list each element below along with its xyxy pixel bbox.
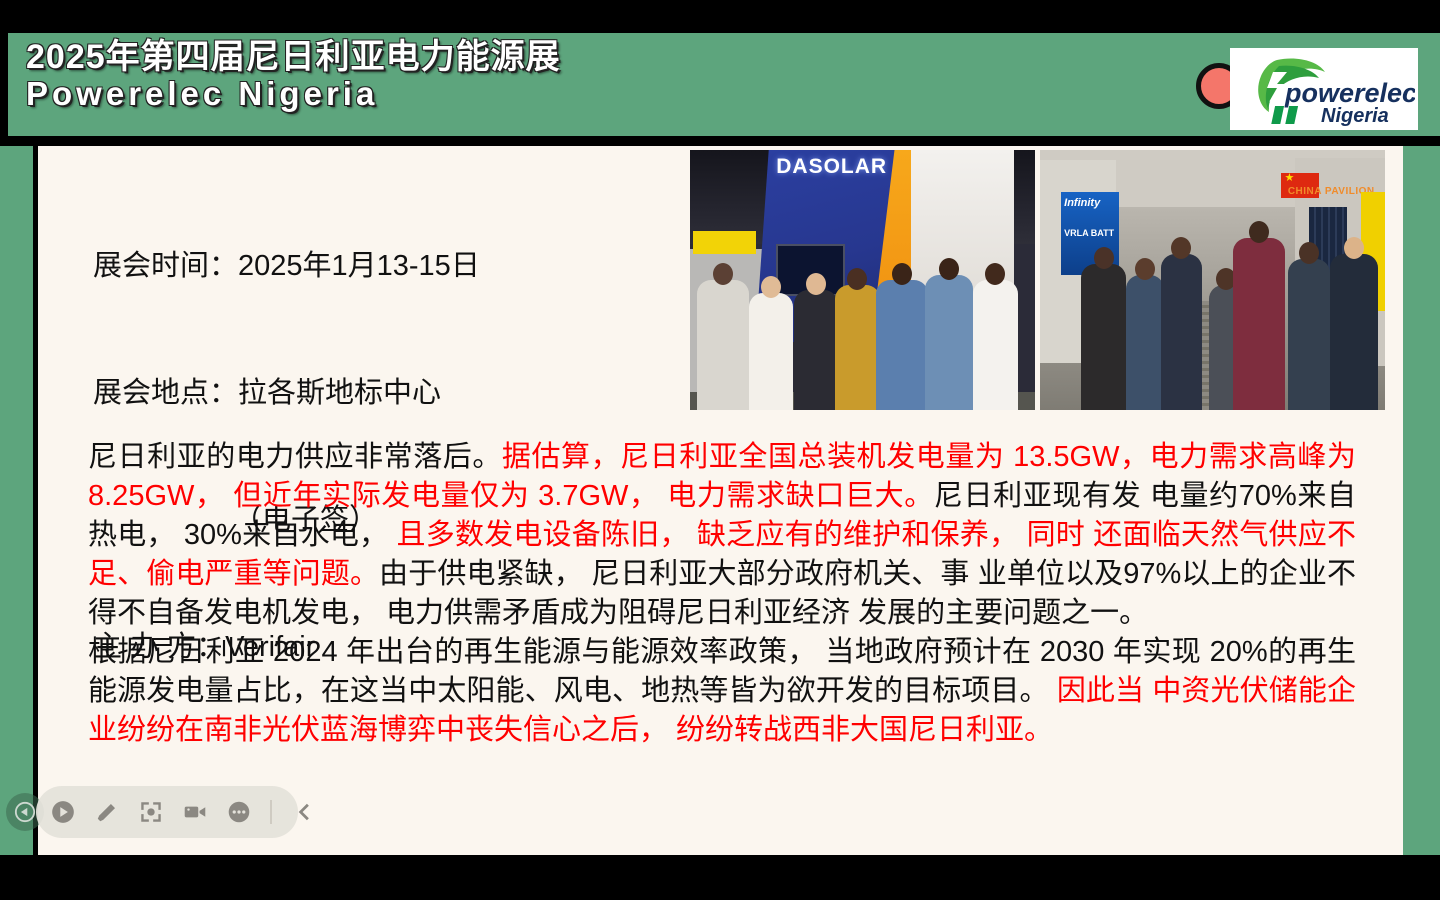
toolbar-divider: [270, 800, 272, 824]
slide-body: 展会时间：2025年1月13-15日 展会地点：拉各斯地标中心 （电子签） 主 …: [0, 146, 1440, 855]
title-english: Powerelec Nigeria: [26, 76, 561, 112]
aisle-crowd-photo: Infinity VRLA BATT CHINA PAVILION: [1040, 150, 1385, 410]
slide-stage: 2025年第四届尼日利亚电力能源展 Powerelec Nigeria powe…: [0, 0, 1440, 900]
laser-pointer-icon: [138, 799, 164, 825]
page-title: 2025年第四届尼日利亚电力能源展 Powerelec Nigeria: [26, 39, 561, 111]
right-green-strip: [1403, 146, 1440, 855]
booth-crowd-photo: DASOLAR: [690, 150, 1035, 410]
record-button[interactable]: [182, 799, 208, 825]
powerelec-logo-icon: powerelec Nigeria: [1233, 50, 1415, 128]
presentation-toolbar[interactable]: [36, 786, 298, 838]
svg-text:powerelec: powerelec: [1284, 78, 1415, 108]
pen-button[interactable]: [94, 799, 120, 825]
collapse-button[interactable]: [290, 799, 316, 825]
article-paragraph-1: 尼日利亚的电力供应非常落后。据估算，尼日利亚全国总装机发电量为 13.5GW，电…: [88, 438, 1356, 633]
ellipsis-circle-icon: [226, 799, 252, 825]
play-button[interactable]: [50, 799, 76, 825]
more-button[interactable]: [226, 799, 252, 825]
title-chinese: 2025年第四届尼日利亚电力能源展: [26, 39, 561, 76]
svg-text:Nigeria: Nigeria: [1321, 105, 1389, 127]
booth-sign-label: DASOLAR: [776, 155, 887, 179]
p1-seg-1: 尼日利亚的电力供应非常落后。: [88, 441, 502, 473]
play-circle-icon: [50, 799, 76, 825]
event-venue: 展会地点：拉各斯地标中心: [93, 372, 480, 414]
infinity-banner-label: Infinity: [1064, 197, 1100, 209]
pencil-icon: [94, 799, 120, 825]
left-green-strip: [0, 146, 33, 855]
article-body: 尼日利亚的电力供应非常落后。据估算，尼日利亚全国总装机发电量为 13.5GW，电…: [88, 438, 1356, 750]
chevron-left-icon: [290, 799, 316, 825]
laser-button[interactable]: [138, 799, 164, 825]
content-page: 展会时间：2025年1月13-15日 展会地点：拉各斯地标中心 （电子签） 主 …: [38, 146, 1403, 855]
play-left-circle-icon: [14, 801, 36, 823]
event-date: 展会时间：2025年1月13-15日: [93, 245, 480, 287]
video-camera-icon: [182, 799, 208, 825]
article-paragraph-2: 根据尼日利亚 2024 年出台的再生能源与能源效率政策， 当地政府预计在 203…: [88, 633, 1356, 750]
battery-banner-label: VRLA BATT: [1064, 228, 1114, 239]
powerelec-logo: powerelec Nigeria: [1230, 48, 1418, 130]
